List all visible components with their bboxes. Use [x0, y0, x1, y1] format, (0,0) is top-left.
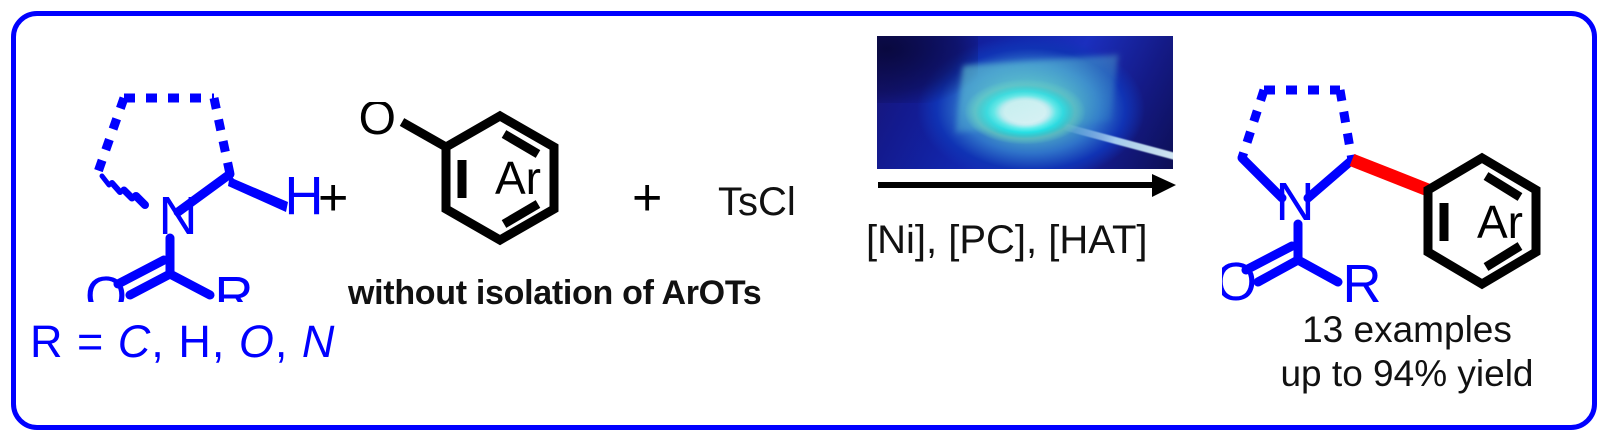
product-summary: 13 examples up to 94% yield — [1232, 308, 1582, 395]
tscl-reagent-label: TsCl — [718, 180, 796, 225]
substrate-r-label: R — [215, 266, 254, 302]
r-option-carbon: C — [118, 316, 152, 367]
photo-vial-glow — [956, 55, 1118, 132]
photoreactor-photo — [877, 36, 1173, 169]
reaction-conditions-label: [Ni], [PC], [HAT] — [866, 218, 1148, 263]
photo-light-streak — [1062, 123, 1173, 161]
r-option-hydrogen: H — [178, 316, 212, 367]
r-option-nitrogen: N — [302, 316, 336, 367]
r-sep-2: , — [212, 316, 239, 367]
max-yield: up to 94% yield — [1232, 352, 1582, 396]
product-aryl-label: Ar — [1477, 196, 1523, 248]
r-sep-3: , — [275, 316, 302, 367]
product-r-label: R — [1343, 254, 1382, 306]
product-oxygen-label: O — [1222, 252, 1257, 306]
phenol-aryl-label: Ar — [495, 152, 541, 204]
product-nitrogen-label: N — [1276, 172, 1315, 232]
r-sep-1: , — [151, 316, 178, 367]
new-carbon-carbon-bond — [1352, 160, 1428, 190]
substrate-nitrogen-label: N — [159, 186, 198, 246]
substrate-oxygen-label: O — [85, 266, 127, 302]
r-option-oxygen: O — [239, 316, 275, 367]
no-isolation-note: without isolation of ArOTs — [348, 274, 761, 313]
plus-sign-one: + — [318, 172, 348, 224]
examples-count: 13 examples — [1232, 308, 1582, 352]
plus-sign-two: + — [632, 172, 662, 224]
reaction-arrow — [876, 172, 1176, 202]
substrate-r-definition: R = C, H, O, N — [30, 316, 335, 368]
phenol-hydroxyl-label: HO — [358, 102, 396, 145]
r-definition-prefix: R = — [30, 316, 118, 367]
substrate-structure: N H O R — [58, 62, 328, 302]
phenol-structure: HO Ar — [358, 102, 598, 262]
product-structure: N O R Ar — [1222, 58, 1590, 306]
graphical-abstract: N H O R R = C, H, O, N + HO Ar — [0, 0, 1614, 447]
